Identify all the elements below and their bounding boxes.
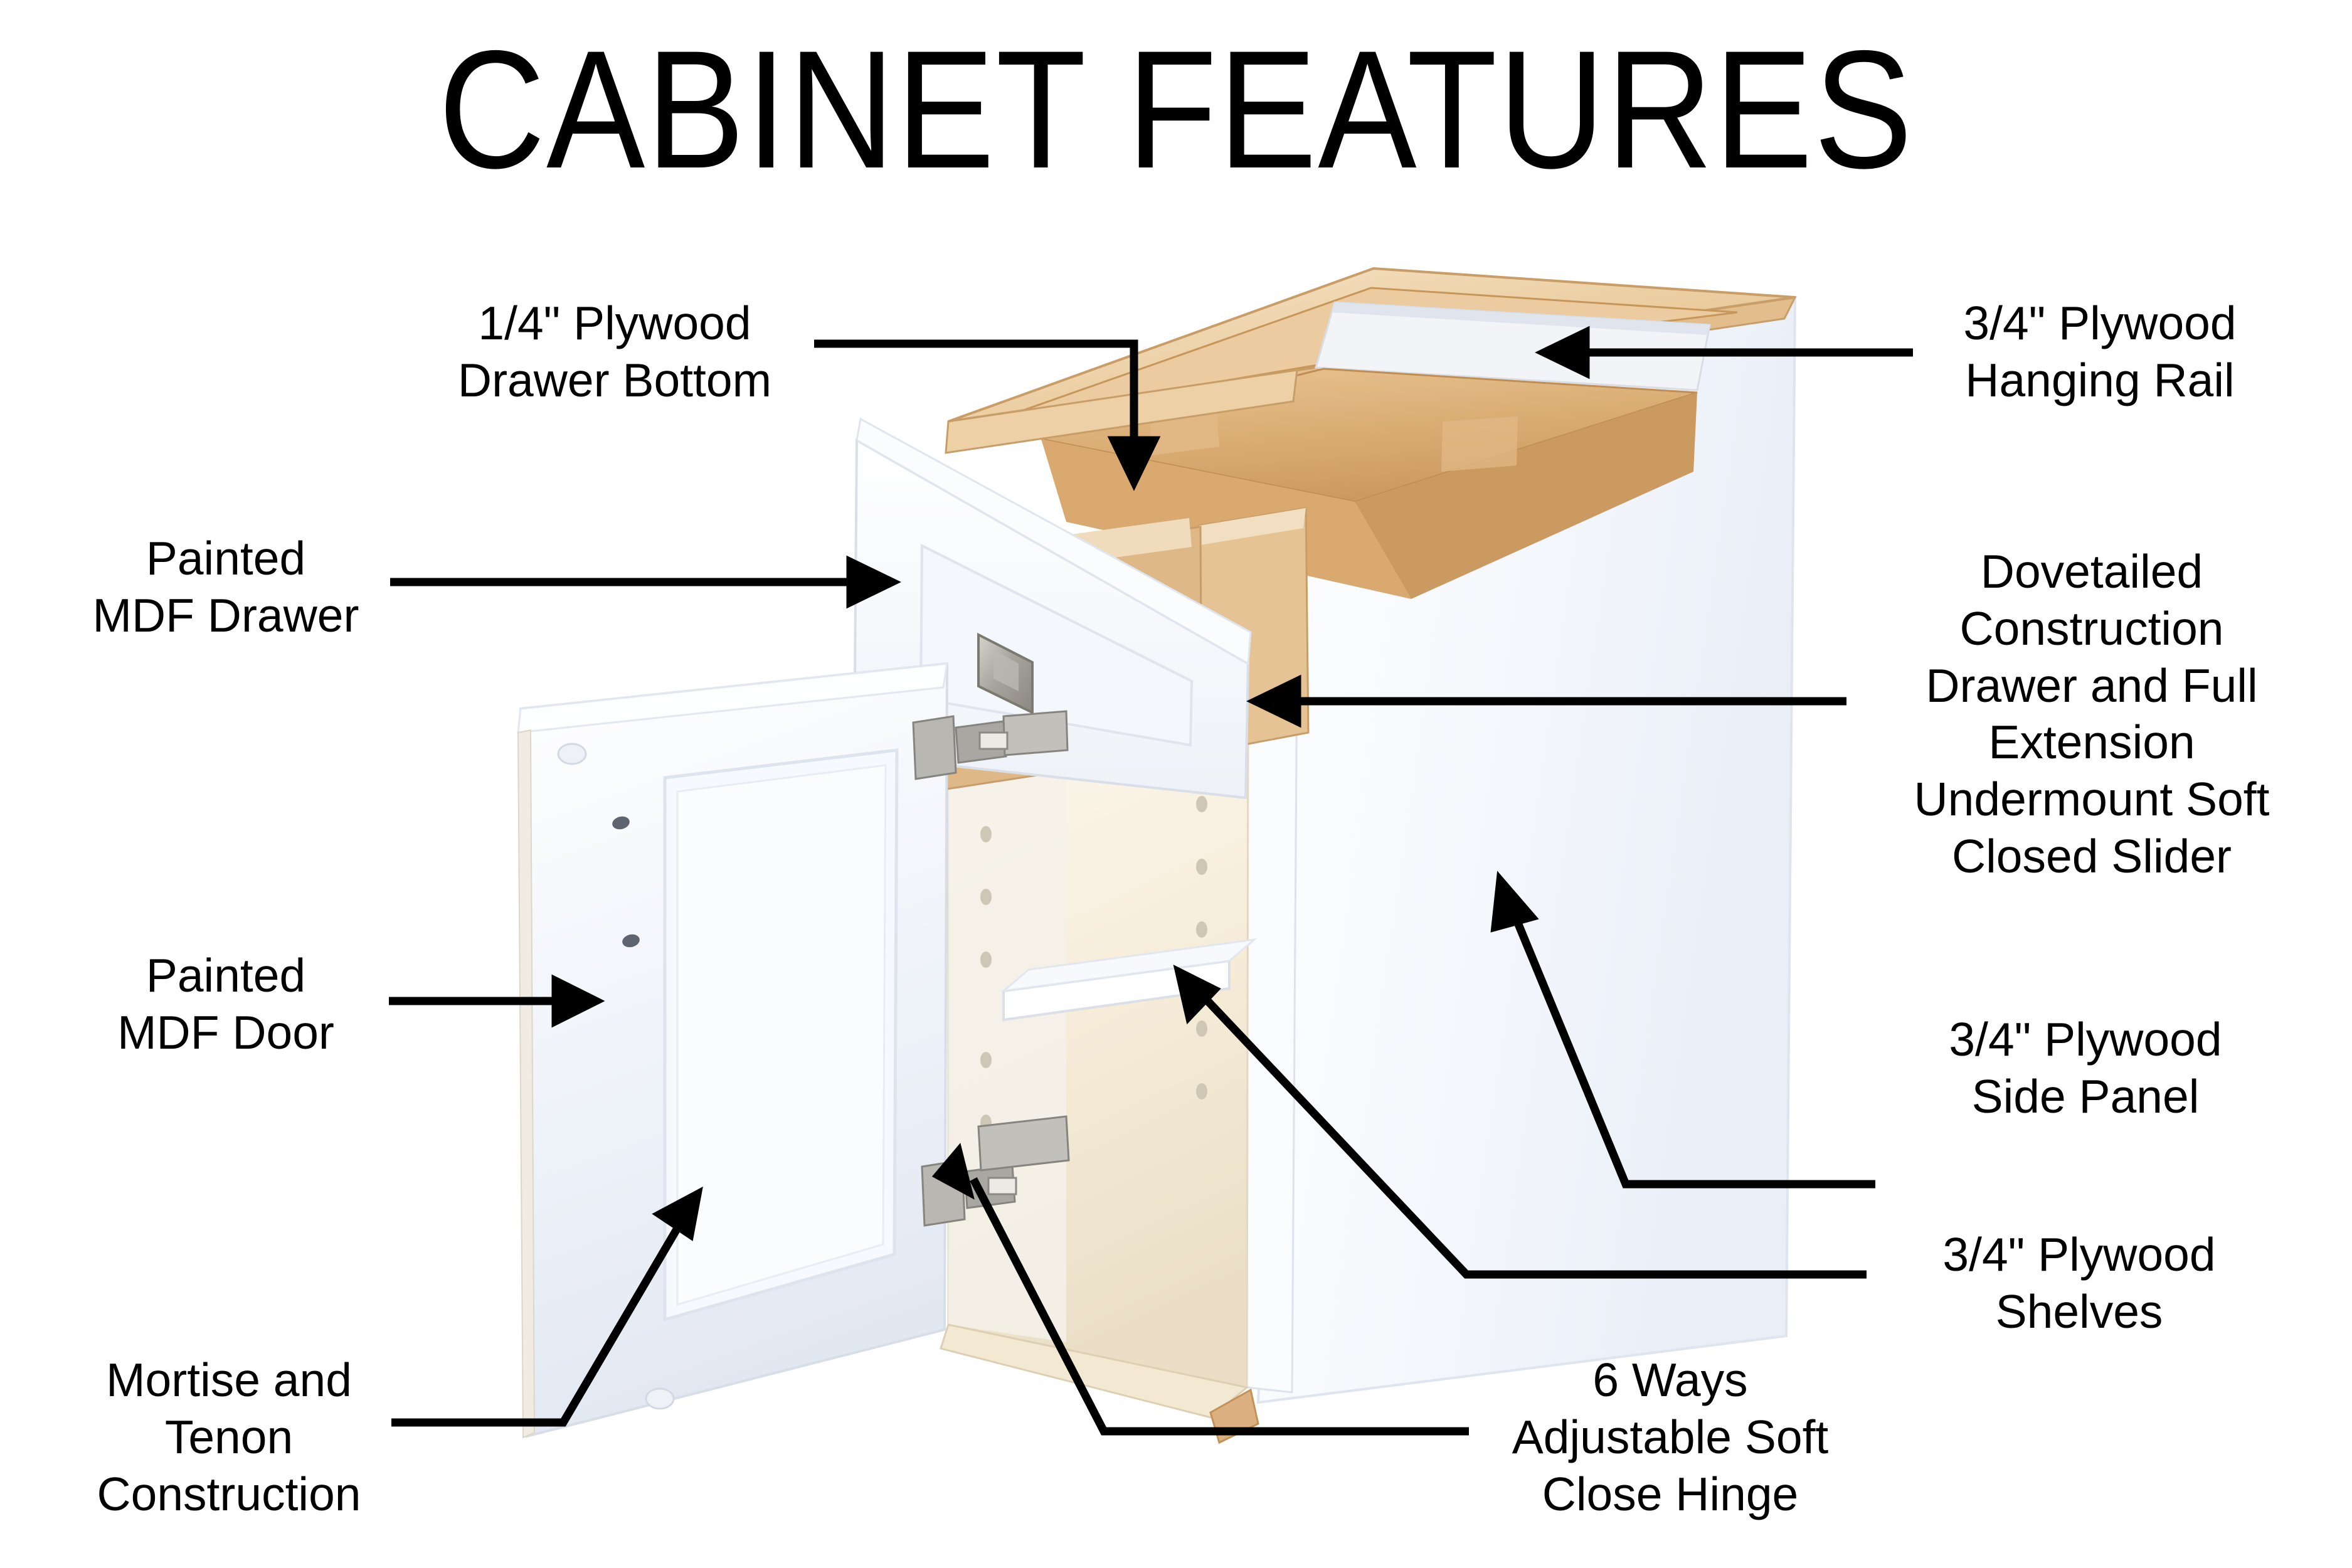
hanging-rail-top-edge: [1332, 302, 1710, 335]
drawer-box-back-panel: [903, 527, 1202, 795]
cabinet-interior-cavity: [1041, 369, 1697, 502]
drawer-knob-bevel: [993, 650, 1019, 691]
side-panel-face: [1258, 297, 1795, 1402]
cabinet-toe-plywood: [1210, 1390, 1258, 1443]
drawer-box-right-top-edge: [1197, 508, 1306, 546]
cabinet-interior-left-wall: [948, 674, 1248, 1387]
leader-drawer-bottom: [814, 344, 1154, 482]
door-panel-inner-bevel: [677, 765, 886, 1305]
callout-painted-mdf-door: Painted MDF Door: [82, 947, 370, 1061]
leader-shelves: [1179, 972, 1867, 1274]
callout-painted-mdf-drawer: Painted MDF Drawer: [75, 530, 376, 644]
drawer-front-recess: [921, 546, 1192, 745]
side-panel-top-edge: [1293, 297, 1795, 391]
leader-dovetailed-construction: [1256, 681, 1846, 721]
door-left-edge: [518, 730, 534, 1438]
soft-close-hinge-bottom: [922, 1116, 1069, 1226]
leader-soft-close-hinge: [938, 1152, 1469, 1431]
door-face: [521, 664, 947, 1436]
drawer-front: [854, 419, 1251, 798]
cabinet-top-opening: [999, 288, 1737, 419]
drawer-knob: [978, 635, 1032, 712]
soft-close-hinge-top: [913, 711, 1067, 779]
door-hinge-screws: [611, 815, 641, 949]
callout-shelves: 3/4" Plywood Shelves: [1894, 1226, 2264, 1340]
cabinet-carcass: [941, 268, 1795, 1443]
cabinet-bottom-deck: [941, 1325, 1247, 1417]
leader-hanging-rail: [1544, 332, 1913, 373]
interior-blocking-1: [1149, 406, 1219, 455]
page-title: CABINET FEATURES: [141, 21, 2211, 198]
drawer-front-top-edge: [857, 419, 1251, 664]
cabinet-front-right-stile: [1247, 664, 1297, 1392]
cabinet-interior-right: [1355, 393, 1697, 599]
door-bumper-bottom: [646, 1389, 674, 1409]
drawer-box-interior: [926, 518, 1192, 583]
leader-painted-mdf-door: [389, 981, 596, 1021]
callout-mortise-tenon: Mortise and Tenon Construction: [63, 1352, 395, 1522]
interior-blocking-2: [1441, 416, 1518, 472]
drawer-box-right-side: [1199, 508, 1308, 753]
door-bumper-top: [558, 744, 586, 764]
door-recessed-panel: [665, 750, 897, 1320]
shelf: [1004, 961, 1229, 1020]
door-top-edge: [518, 664, 947, 733]
infographic-page: CABINET FEATURES: [0, 0, 2352, 1568]
leader-lines: [389, 332, 1913, 1431]
leader-painted-mdf-drawer: [390, 562, 892, 602]
cabinet-interior-back: [1041, 439, 1411, 599]
drawer-front-plane: [854, 440, 1248, 798]
callout-soft-close-hinge: 6 Ways Adjustable Soft Close Hinge: [1473, 1352, 1868, 1522]
cabinet-interior-shadow: [948, 692, 1066, 1342]
callout-drawer-bottom: 1/4" Plywood Drawer Bottom: [433, 295, 797, 409]
leader-mortise-tenon: [391, 1194, 697, 1422]
drawer-box: [903, 508, 1308, 795]
drawer-front-face: [854, 439, 1248, 795]
hanging-rail: [1316, 302, 1710, 390]
callout-side-panel: 3/4" Plywood Side Panel: [1904, 1011, 2267, 1125]
cabinet-door: [518, 664, 947, 1438]
shelf-pin-holes: [980, 796, 1207, 1131]
callout-dovetailed-construction: Dovetailed Construction Drawer and Full …: [1875, 543, 2308, 885]
front-plywood-edge-top: [946, 370, 1297, 453]
callout-hanging-rail: 3/4" Plywood Hanging Rail: [1924, 295, 2275, 409]
leader-side-panel: [1495, 881, 1875, 1184]
cabinet-top-frame: [948, 268, 1795, 421]
shelf-top-face: [1004, 940, 1254, 991]
